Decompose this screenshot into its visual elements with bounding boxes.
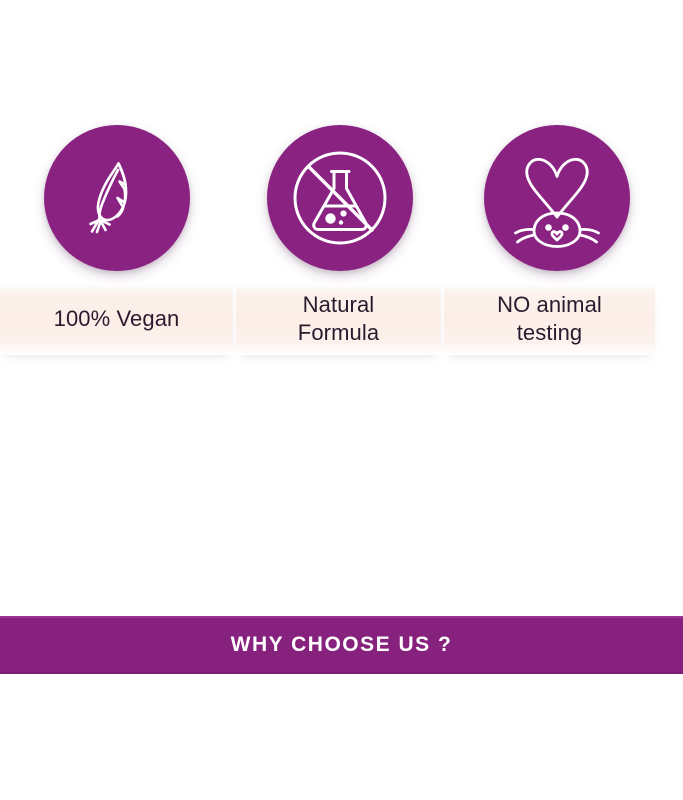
trust-badges-row: 100% Vegan	[0, 0, 683, 360]
badge-vegan-circle	[44, 125, 190, 271]
badge-vegan-label-strip: 100% Vegan	[0, 283, 233, 355]
why-choose-us-banner: WHY CHOOSE US ?	[0, 616, 683, 674]
badge-vegan-label: 100% Vegan	[54, 305, 180, 333]
badge-natural-formula-circle	[267, 125, 413, 271]
feather-icon	[44, 125, 190, 271]
badge-vegan[interactable]: 100% Vegan	[0, 0, 233, 360]
badge-natural-formula-label-strip: Natural Formula	[236, 283, 441, 355]
badge-no-animal-testing-label-strip: NO animal testing	[444, 283, 655, 355]
badge-no-animal-testing[interactable]: NO animal testing	[444, 0, 655, 360]
rabbit-no-animal-testing-icon	[484, 125, 630, 271]
badge-natural-formula-label: Natural Formula	[298, 291, 379, 347]
no-chemicals-flask-icon	[267, 125, 413, 271]
why-choose-us-title: WHY CHOOSE US ?	[231, 633, 453, 657]
badge-no-animal-testing-label: NO animal testing	[497, 291, 602, 347]
badge-natural-formula[interactable]: Natural Formula	[236, 0, 441, 360]
badge-no-animal-testing-circle	[484, 125, 630, 271]
